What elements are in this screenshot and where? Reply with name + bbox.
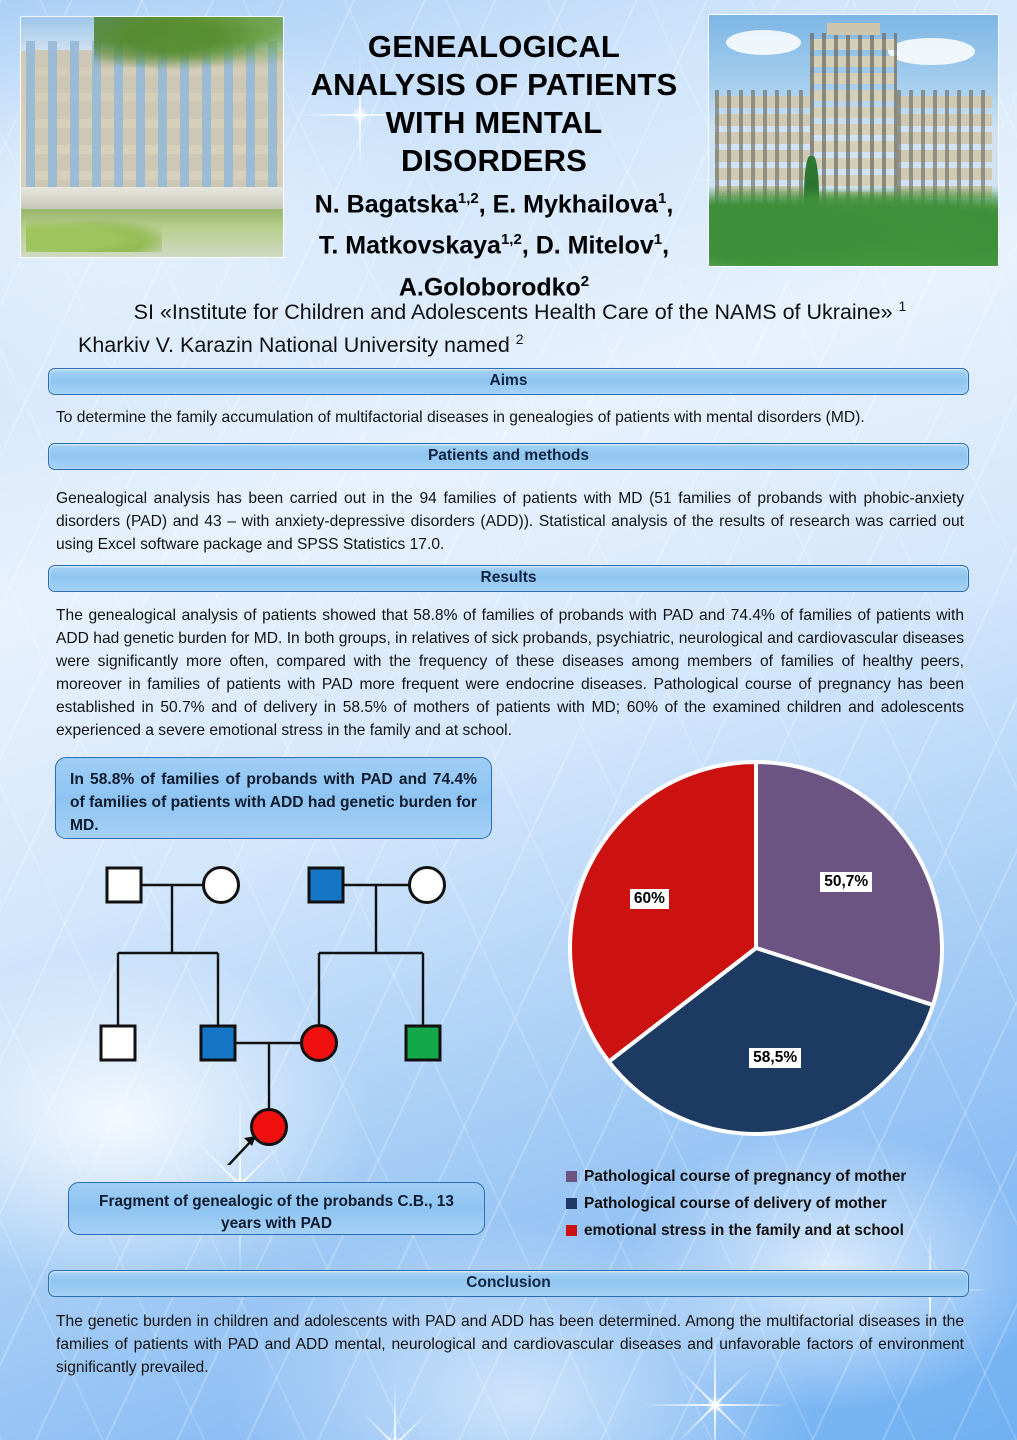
proband-arrow-icon: [223, 1136, 256, 1165]
author-line-1: N. Bagatska1,2, E. Mykhailova1,: [268, 182, 720, 221]
pedigree-symbol-circle: [204, 868, 239, 903]
pedigree-symbol-square: [309, 868, 343, 902]
pie-slice-label: 50,7%: [820, 872, 872, 892]
pie-chart: 50,7% 58,5% 60%: [560, 752, 960, 1152]
poster-canvas: GENEALOGICAL ANALYSIS OF PATIENTS WITH M…: [0, 0, 1017, 1440]
title-line-3: WITH MENTAL: [268, 104, 720, 142]
section-header-methods: Patients and methods: [48, 443, 969, 470]
institute-building-photo: [20, 16, 284, 258]
section-text-methods: Genealogical analysis has been carried o…: [56, 487, 964, 556]
section-text-results: The genealogical analysis of patients sh…: [56, 604, 964, 742]
pie-chart-svg: [560, 752, 960, 1152]
pedigree-symbol-proband: [252, 1110, 287, 1145]
title-line-4: DISORDERS: [268, 142, 720, 180]
pedigree-caption-line-1: Fragment of genealogic of the probands C…: [99, 1193, 454, 1232]
legend-swatch-icon: [566, 1225, 577, 1236]
pedigree-symbol-square: [406, 1026, 440, 1060]
affiliation-2: Kharkiv V. Karazin National University n…: [78, 323, 958, 362]
pedigree-diagram: [80, 855, 500, 1165]
legend-label: emotional stress in the family and at sc…: [584, 1222, 904, 1240]
pie-slice-label: 58,5%: [749, 1048, 801, 1068]
pedigree-symbol-circle: [410, 868, 445, 903]
university-building-photo: [708, 14, 999, 267]
poster-title: GENEALOGICAL ANALYSIS OF PATIENTS WITH M…: [268, 28, 720, 304]
pedigree-symbol-square: [107, 868, 141, 902]
legend-item-pregnancy: Pathological course of pregnancy of moth…: [566, 1163, 986, 1190]
pedigree-symbol-square: [101, 1026, 135, 1060]
section-header-conclusion: Conclusion: [48, 1270, 969, 1297]
legend-item-stress: emotional stress in the family and at sc…: [566, 1217, 986, 1244]
title-line-1: GENEALOGICAL: [268, 28, 720, 66]
pedigree-svg: [80, 855, 500, 1165]
legend-label: Pathological course of pregnancy of moth…: [584, 1168, 906, 1186]
pedigree-symbol-circle: [302, 1026, 337, 1061]
callout-genetic-burden: In 58.8% of families of probands with PA…: [55, 757, 492, 839]
pedigree-symbol-square: [201, 1026, 235, 1060]
pedigree-caption: Fragment of genealogic of the probands C…: [68, 1182, 485, 1235]
legend-item-delivery: Pathological course of delivery of mothe…: [566, 1190, 986, 1217]
section-text-conclusion: The genetic burden in children and adole…: [56, 1310, 964, 1379]
legend-swatch-icon: [566, 1198, 577, 1209]
author-line-2: T. Matkovskaya1,2, D. Mitelov1,: [268, 223, 720, 262]
sparkle-icon: [330, 1380, 460, 1440]
section-header-aims: Aims: [48, 368, 969, 395]
title-line-2: ANALYSIS OF PATIENTS: [268, 66, 720, 104]
section-header-results: Results: [48, 565, 969, 592]
legend-label: Pathological course of delivery of mothe…: [584, 1195, 887, 1213]
section-text-aims: To determine the family accumulation of …: [56, 406, 964, 429]
legend-swatch-icon: [566, 1171, 577, 1182]
pie-slice-label: 60%: [630, 889, 669, 909]
pie-chart-legend: Pathological course of pregnancy of moth…: [566, 1163, 986, 1244]
